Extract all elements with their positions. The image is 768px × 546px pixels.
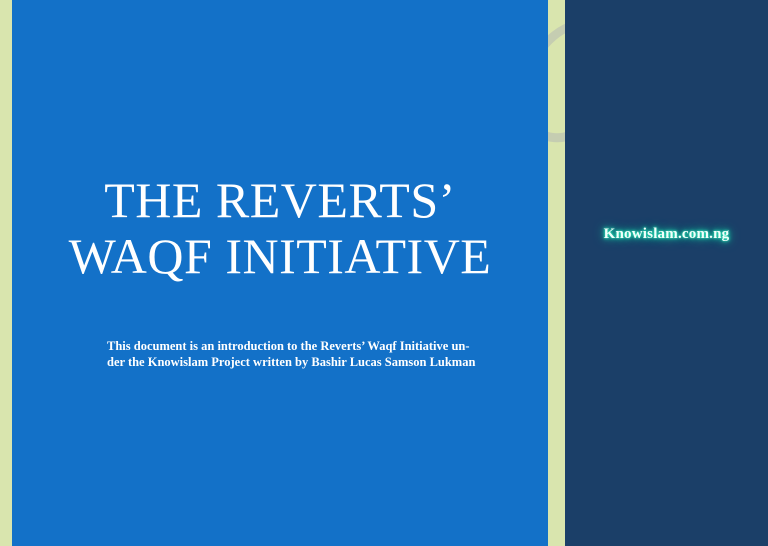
brand-wordmark: Knowislam.com.ng bbox=[565, 224, 768, 244]
document-page-body: THE REVERTS’ WAQF INITIATIVE This docume… bbox=[12, 0, 548, 546]
gutter-strip bbox=[548, 0, 565, 546]
page-title: THE REVERTS’ WAQF INITIATIVE bbox=[12, 172, 548, 284]
cover-screenshot: THE REVERTS’ WAQF INITIATIVE This docume… bbox=[0, 0, 768, 546]
document-page: THE REVERTS’ WAQF INITIATIVE This docume… bbox=[12, 0, 548, 546]
background-swirl-graphic bbox=[548, 6, 565, 156]
side-panel: Knowislam.com.ng bbox=[565, 0, 768, 546]
left-edge-strip bbox=[0, 0, 12, 546]
document-subtitle: This document is an introduction to the … bbox=[107, 338, 527, 370]
